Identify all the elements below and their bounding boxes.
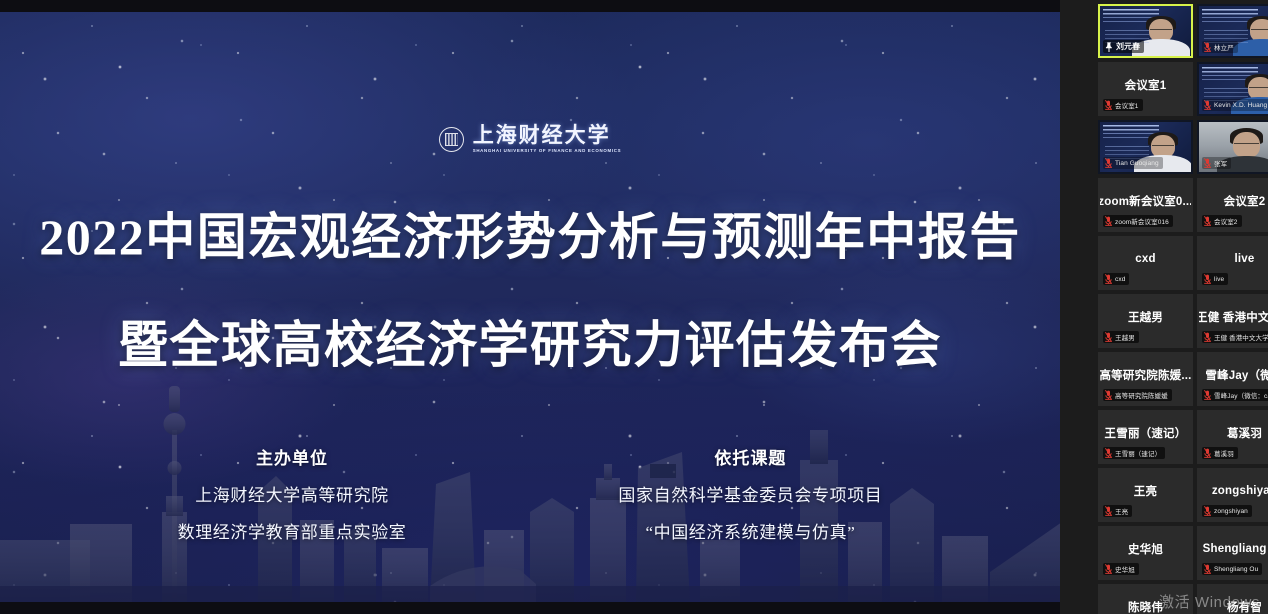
participant-filmstrip[interactable]: 刘元春林立严会议室1会议室1Kevin X.D. HuangTian Guoqi… — [1060, 0, 1268, 614]
participant-name-label: zoom新会议室016 — [1115, 216, 1169, 226]
muted-mic-icon — [1105, 100, 1112, 110]
slide-title-line1: 2022中国宏观经济形势分析与预测年中报告 — [0, 197, 1060, 269]
pin-icon — [1105, 42, 1113, 52]
participant-name-badge: Tian Guoqiang — [1103, 157, 1163, 169]
muted-mic-icon — [1204, 274, 1211, 284]
participant-tile[interactable]: Kevin X.D. Huang — [1197, 62, 1268, 116]
participant-name-badge: 王健 香港中文大学（深 — [1202, 331, 1268, 343]
participant-tile[interactable]: 会议室1会议室1 — [1098, 62, 1193, 116]
muted-mic-icon — [1204, 332, 1211, 342]
participant-tile[interactable]: 刘元春 — [1098, 4, 1193, 58]
participant-name-label: 王越男 — [1115, 332, 1135, 342]
participant-tile[interactable]: 王亮王亮 — [1098, 468, 1193, 522]
participant-tile[interactable]: 林立严 — [1197, 4, 1268, 58]
participant-tile[interactable]: 葛溪羽葛溪羽 — [1197, 410, 1268, 464]
slide-title-block: 2022中国宏观经济形势分析与预测年中报告 暨全球高校经济学研究力评估发布会 — [0, 197, 1060, 377]
slide-title-line2: 暨全球高校经济学研究力评估发布会 — [0, 305, 1060, 377]
muted-mic-icon — [1105, 390, 1112, 400]
muted-mic-icon — [1105, 332, 1112, 342]
presentation-slide: 上海财经大学 SHANGHAI UNIVERSITY OF FINANCE AN… — [0, 12, 1060, 602]
participant-name-label: 会议室2 — [1214, 216, 1238, 226]
muted-mic-icon — [1105, 564, 1112, 574]
muted-mic-icon — [1204, 390, 1211, 400]
muted-mic-icon — [1204, 100, 1211, 110]
muted-mic-icon — [1204, 42, 1211, 52]
participant-name-label: 会议室1 — [1115, 100, 1139, 110]
participant-name-label: 史华旭 — [1115, 564, 1135, 574]
project-heading: 依托课题 — [618, 444, 882, 469]
pinned-name-badge: 刘元春 — [1103, 40, 1144, 53]
participant-display-name: 杨有智 — [1199, 586, 1268, 614]
university-seal-icon — [439, 127, 464, 152]
participant-name-label: 王雪丽（速记） — [1115, 448, 1161, 458]
participant-name-badge: zoom新会议室016 — [1103, 215, 1173, 227]
participant-tile[interactable]: 高等研究院陈媛...高等研究院陈媛媛 — [1098, 352, 1193, 406]
university-name-cn: 上海财经大学 — [473, 125, 622, 146]
participant-name-badge: 史华旭 — [1103, 563, 1139, 575]
participant-name-badge: 王雪丽（速记） — [1103, 447, 1165, 459]
participant-tile[interactable]: livelive — [1197, 236, 1268, 290]
participant-tile[interactable]: 史华旭史华旭 — [1098, 526, 1193, 580]
zoom-meeting-window: 上海财经大学 SHANGHAI UNIVERSITY OF FINANCE AN… — [0, 0, 1268, 614]
participant-name-badge: 张军 — [1202, 157, 1231, 169]
slide-footer-block: 主办单位 上海财经大学高等研究院 数理经济学教育部重点实验室 依托课题 国家自然… — [0, 444, 1060, 543]
participant-name-label: cxd — [1115, 276, 1125, 283]
organizer-column: 主办单位 上海财经大学高等研究院 数理经济学教育部重点实验室 — [178, 444, 407, 543]
participant-name-label: 林立严 — [1214, 42, 1234, 52]
muted-mic-icon — [1204, 216, 1211, 226]
participant-name-badge: cxd — [1103, 273, 1129, 285]
participant-tile[interactable]: 王健 香港中文大学王健 香港中文大学（深 — [1197, 294, 1268, 348]
muted-mic-icon — [1204, 158, 1211, 168]
participant-name-label: 雪峰Jay（微信：cajyth） — [1214, 390, 1268, 400]
participant-display-name: 陈晓伟 — [1100, 586, 1191, 614]
muted-mic-icon — [1105, 448, 1112, 458]
participant-name-label: 王亮 — [1115, 506, 1128, 516]
university-logo-text: 上海财经大学 SHANGHAI UNIVERSITY OF FINANCE AN… — [473, 125, 622, 153]
participant-tile-grid: 刘元春林立严会议室1会议室1Kevin X.D. HuangTian Guoqi… — [1098, 4, 1268, 614]
organizer-heading: 主办单位 — [178, 444, 407, 469]
participant-tile[interactable]: 杨有智杨有智 — [1197, 584, 1268, 614]
participant-tile[interactable]: 会议室2会议室2 — [1197, 178, 1268, 232]
organizer-line-1: 上海财经大学高等研究院 — [178, 481, 407, 506]
participant-tile[interactable]: zoom新会议室0...zoom新会议室016 — [1098, 178, 1193, 232]
participant-name-label: 刘元春 — [1116, 41, 1140, 52]
participant-name-badge: 王越男 — [1103, 331, 1139, 343]
muted-mic-icon — [1105, 274, 1112, 284]
participant-name-label: 王健 香港中文大学（深 — [1214, 332, 1268, 342]
participant-name-label: Kevin X.D. Huang — [1214, 102, 1267, 109]
organizer-line-2: 数理经济学教育部重点实验室 — [178, 518, 407, 543]
participant-tile[interactable]: 王雪丽（速记）王雪丽（速记） — [1098, 410, 1193, 464]
project-column: 依托课题 国家自然科学基金委员会专项项目 “中国经济系统建模与仿真” — [618, 444, 882, 543]
participant-tile[interactable]: Tian Guoqiang — [1098, 120, 1193, 174]
participant-name-badge: 葛溪羽 — [1202, 447, 1238, 459]
muted-mic-icon — [1204, 506, 1211, 516]
participant-name-label: 张军 — [1214, 158, 1227, 168]
project-line-1: 国家自然科学基金委员会专项项目 — [618, 481, 882, 506]
participant-tile[interactable]: zongshiyanzongshiyan — [1197, 468, 1268, 522]
muted-mic-icon — [1105, 216, 1112, 226]
university-name-en: SHANGHAI UNIVERSITY OF FINANCE AND ECONO… — [473, 149, 622, 153]
participant-name-label: live — [1214, 276, 1224, 283]
participant-tile[interactable]: 王越男王越男 — [1098, 294, 1193, 348]
muted-mic-icon — [1105, 506, 1112, 516]
participant-name-badge: 王亮 — [1103, 505, 1132, 517]
participant-name-label: Tian Guoqiang — [1115, 160, 1159, 167]
university-logo: 上海财经大学 SHANGHAI UNIVERSITY OF FINANCE AN… — [0, 125, 1060, 153]
shared-screen-region[interactable]: 上海财经大学 SHANGHAI UNIVERSITY OF FINANCE AN… — [0, 0, 1060, 614]
project-line-2: “中国经济系统建模与仿真” — [618, 518, 882, 543]
participant-name-badge: 高等研究院陈媛媛 — [1103, 389, 1172, 401]
muted-mic-icon — [1204, 448, 1211, 458]
muted-mic-icon — [1105, 158, 1112, 168]
participant-name-badge: Shengliang Ou — [1202, 563, 1262, 575]
muted-mic-icon — [1204, 564, 1211, 574]
participant-name-badge: zongshiyan — [1202, 505, 1252, 517]
participant-name-badge: 林立严 — [1202, 41, 1238, 53]
participant-name-label: zongshiyan — [1214, 508, 1248, 515]
participant-name-badge: 会议室2 — [1202, 215, 1242, 227]
participant-tile[interactable]: Shengliang OuShengliang Ou — [1197, 526, 1268, 580]
participant-tile[interactable]: 张军 — [1197, 120, 1268, 174]
participant-name-label: Shengliang Ou — [1214, 566, 1258, 573]
participant-name-label: 葛溪羽 — [1214, 448, 1234, 458]
participant-name-badge: live — [1202, 273, 1228, 285]
participant-tile[interactable]: 雪峰Jay（微信雪峰Jay（微信：cajyth） — [1197, 352, 1268, 406]
participant-name-badge: 会议室1 — [1103, 99, 1143, 111]
participant-tile[interactable]: cxdcxd — [1098, 236, 1193, 290]
participant-name-badge: Kevin X.D. Huang — [1202, 99, 1268, 111]
participant-name-badge: 雪峰Jay（微信：cajyth） — [1202, 389, 1268, 401]
participant-name-label: 高等研究院陈媛媛 — [1115, 390, 1168, 400]
participant-tile[interactable]: 陈晓伟陈晓伟 — [1098, 584, 1193, 614]
